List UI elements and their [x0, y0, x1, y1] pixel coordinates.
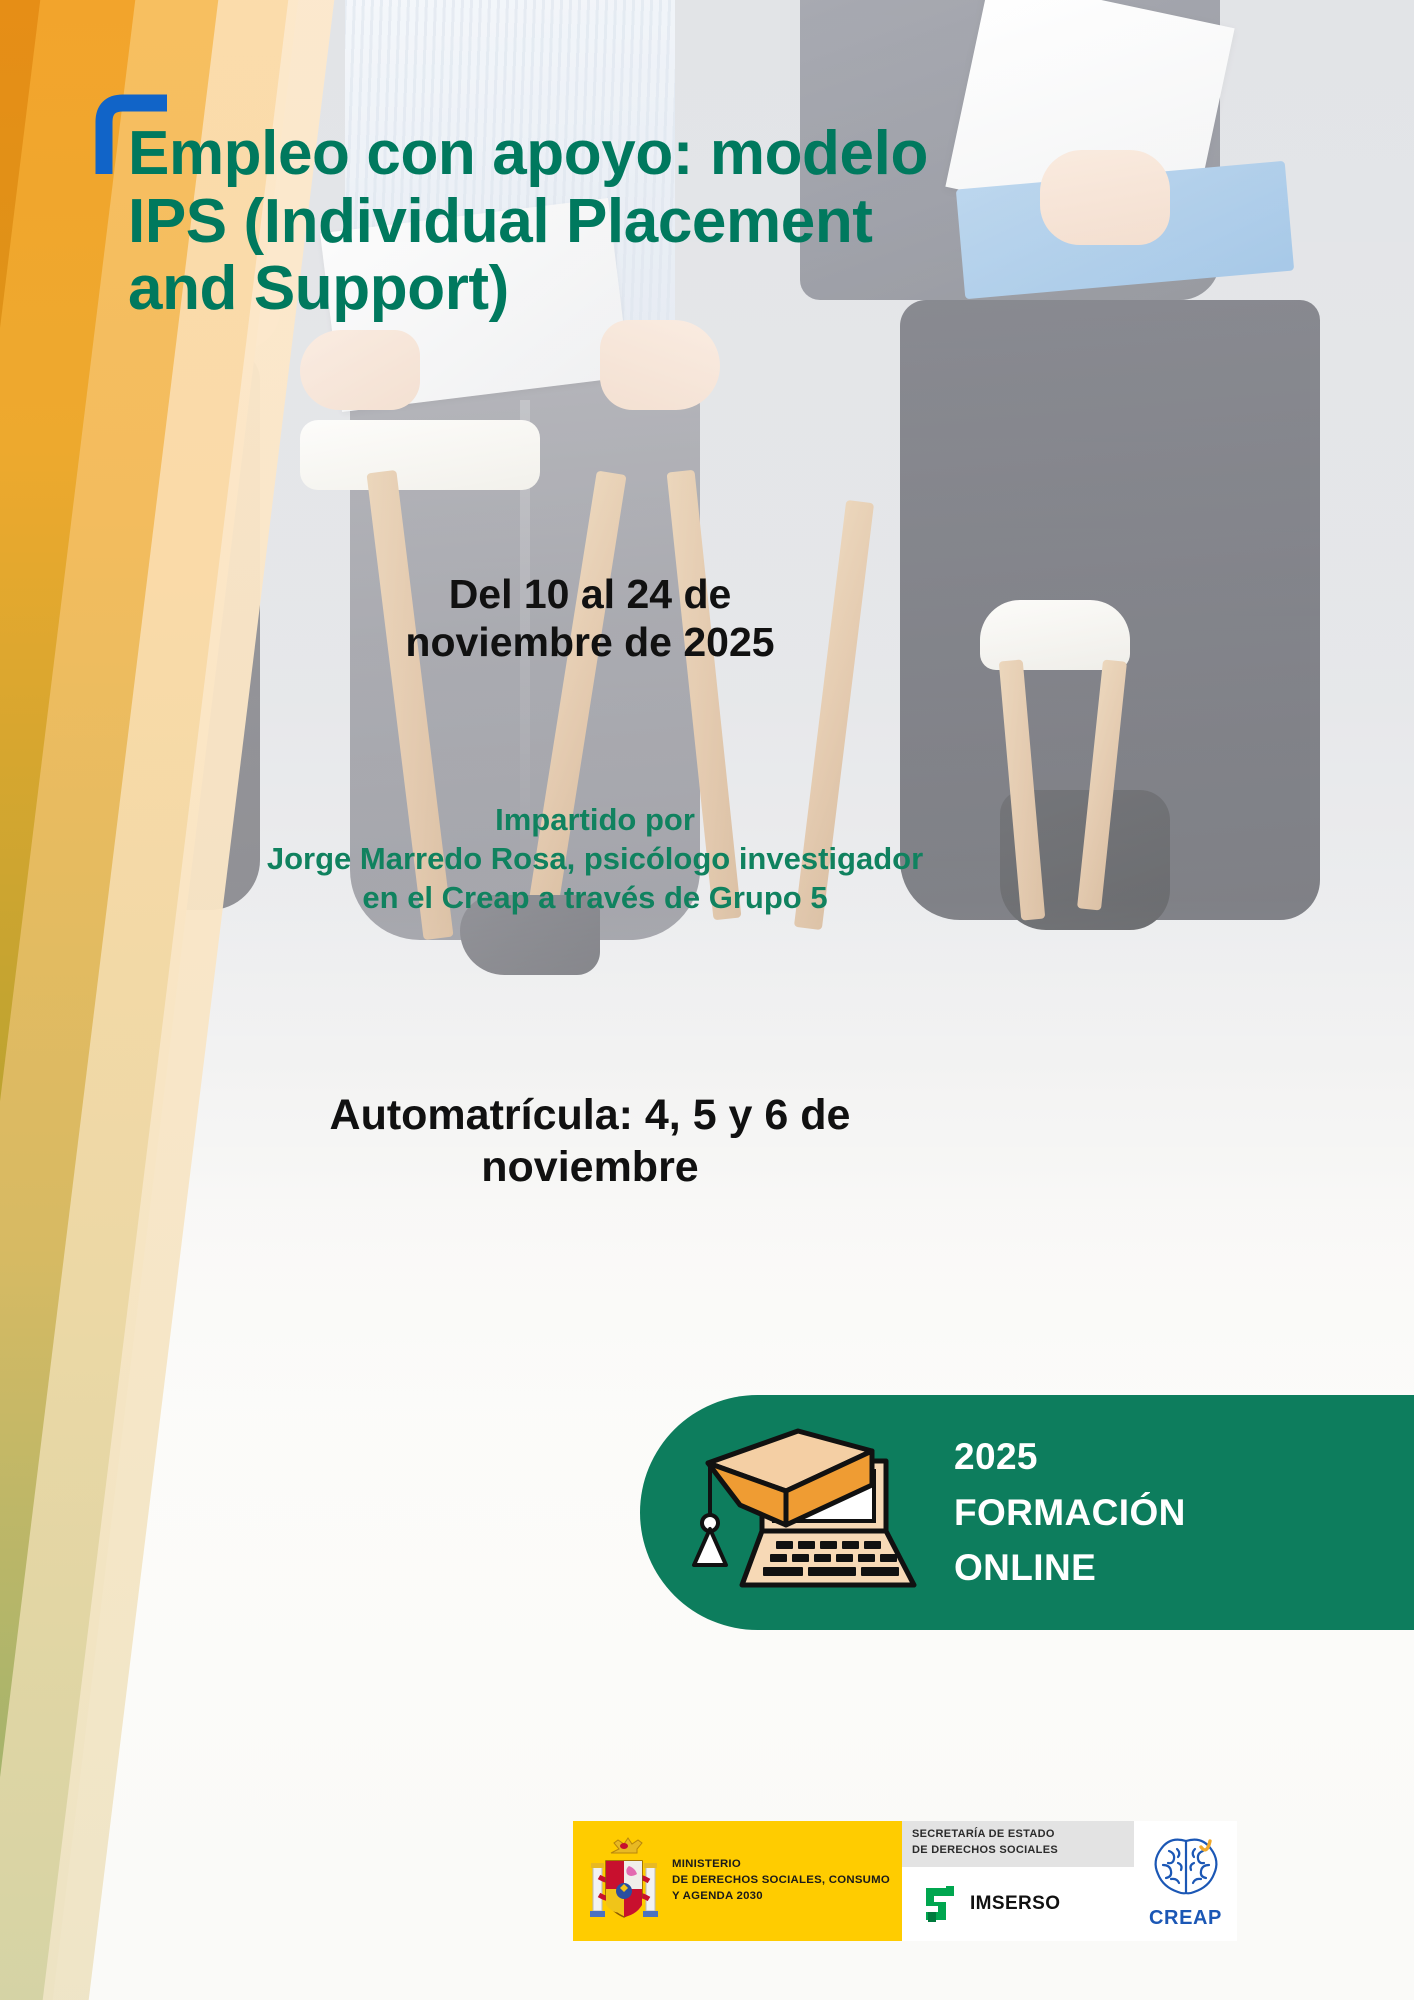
ministry-line-2: DE DERECHOS SOCIALES, CONSUMO — [672, 1873, 890, 1889]
footer-logos: MINISTERIO DE DERECHOS SOCIALES, CONSUMO… — [573, 1821, 1237, 1941]
dates-line-2: noviembre de 2025 — [240, 618, 940, 666]
laptop-graduation-cap-icon — [690, 1413, 940, 1613]
badge-text: 2025 FORMACIÓN ONLINE — [954, 1429, 1186, 1596]
secretaria-imserso-logo: SECRETARÍA DE ESTADO DE DERECHOS SOCIALE… — [902, 1821, 1134, 1941]
title-line-2: IPS (Individual Placement — [128, 188, 1058, 256]
enrollment-line-2: noviembre — [200, 1142, 980, 1194]
secretaria-text: SECRETARÍA DE ESTADO DE DERECHOS SOCIALE… — [902, 1821, 1134, 1867]
course-dates: Del 10 al 24 de noviembre de 2025 — [240, 570, 940, 667]
spain-coat-of-arms-icon — [587, 1833, 661, 1929]
ministry-logo: MINISTERIO DE DERECHOS SOCIALES, CONSUMO… — [573, 1821, 902, 1941]
ministry-text: MINISTERIO DE DERECHOS SOCIALES, CONSUMO… — [672, 1857, 890, 1905]
creap-logo: CREAP — [1134, 1821, 1237, 1941]
secretaria-line-1: SECRETARÍA DE ESTADO — [912, 1827, 1126, 1843]
instructor-block: Impartido por Jorge Marredo Rosa, psicól… — [150, 800, 1040, 917]
badge-online: ONLINE — [954, 1540, 1186, 1596]
title-line-3: and Support) — [128, 255, 1058, 323]
instructor-name: Jorge Marredo Rosa, psicólogo investigad… — [150, 839, 1040, 878]
instructor-org: en el Creap a través de Grupo 5 — [150, 878, 1040, 917]
title-line-1: Empleo con apoyo: modelo — [128, 120, 1058, 188]
instructor-prefix: Impartido por — [150, 800, 1040, 839]
secretaria-line-2: DE DERECHOS SOCIALES — [912, 1843, 1126, 1859]
creap-brain-icon — [1149, 1833, 1223, 1905]
imserso-label: IMSERSO — [970, 1893, 1060, 1915]
enrollment-line-1: Automatrícula: 4, 5 y 6 de — [200, 1090, 980, 1142]
badge-formacion: FORMACIÓN — [954, 1485, 1186, 1541]
enrollment-block: Automatrícula: 4, 5 y 6 de noviembre — [200, 1090, 980, 1193]
page-title: Empleo con apoyo: modelo IPS (Individual… — [128, 120, 1058, 323]
ministry-line-3: Y AGENDA 2030 — [672, 1889, 890, 1905]
online-training-badge: 2025 FORMACIÓN ONLINE — [640, 1395, 1414, 1630]
imserso-logo-icon — [920, 1884, 960, 1924]
dates-line-1: Del 10 al 24 de — [240, 570, 940, 618]
badge-year: 2025 — [954, 1429, 1186, 1485]
ministry-line-1: MINISTERIO — [672, 1857, 890, 1873]
creap-label: CREAP — [1149, 1907, 1222, 1930]
poster-root: Empleo con apoyo: modelo IPS (Individual… — [0, 0, 1414, 2000]
imserso-row: IMSERSO — [902, 1867, 1134, 1941]
